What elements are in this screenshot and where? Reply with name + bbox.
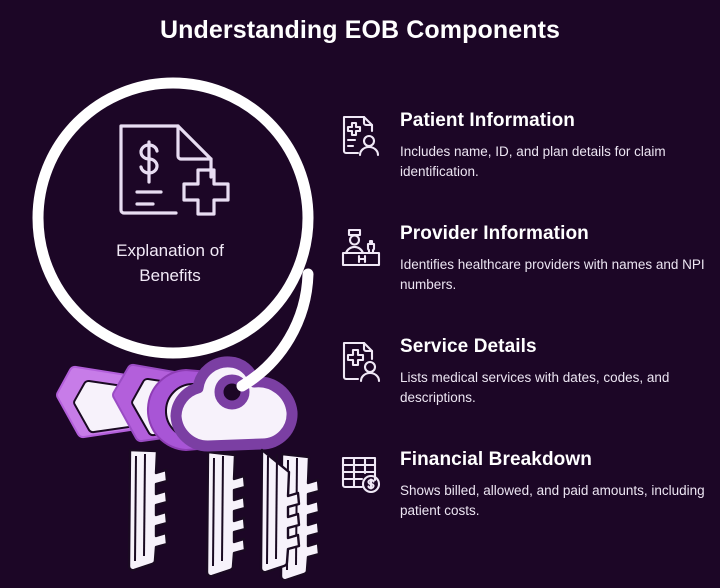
service-record-person-icon	[338, 338, 384, 384]
feature-title: Service Details	[400, 335, 708, 359]
feature-list: Patient Information Includes name, ID, a…	[338, 98, 708, 548]
feature-item-service-details: Service Details Lists medical services w…	[338, 335, 708, 435]
feature-title: Financial Breakdown	[400, 448, 708, 472]
feature-item-financial-breakdown: Financial Breakdown Shows billed, allowe…	[338, 448, 708, 548]
feature-description: Lists medical services with dates, codes…	[400, 368, 708, 407]
feature-description: Shows billed, allowed, and paid amounts,…	[400, 481, 708, 520]
patient-record-person-icon	[338, 112, 384, 158]
feature-item-provider-information: Provider Information Identifies healthca…	[338, 222, 708, 322]
eob-document-icon	[121, 126, 228, 214]
keyring-illustration: Explanation of Benefits	[10, 40, 330, 588]
infographic-canvas: Understanding EOB Components	[0, 0, 720, 588]
provider-desk-hospital-icon	[338, 225, 384, 271]
financial-table-dollar-icon	[338, 451, 384, 497]
key-ring-circle	[38, 83, 308, 353]
eob-center-label: Explanation of Benefits	[65, 238, 275, 288]
feature-item-patient-information: Patient Information Includes name, ID, a…	[338, 109, 708, 209]
feature-description: Identifies healthcare providers with nam…	[400, 255, 708, 294]
feature-description: Includes name, ID, and plan details for …	[400, 142, 708, 181]
feature-title: Provider Information	[400, 222, 708, 246]
feature-title: Patient Information	[400, 109, 708, 133]
